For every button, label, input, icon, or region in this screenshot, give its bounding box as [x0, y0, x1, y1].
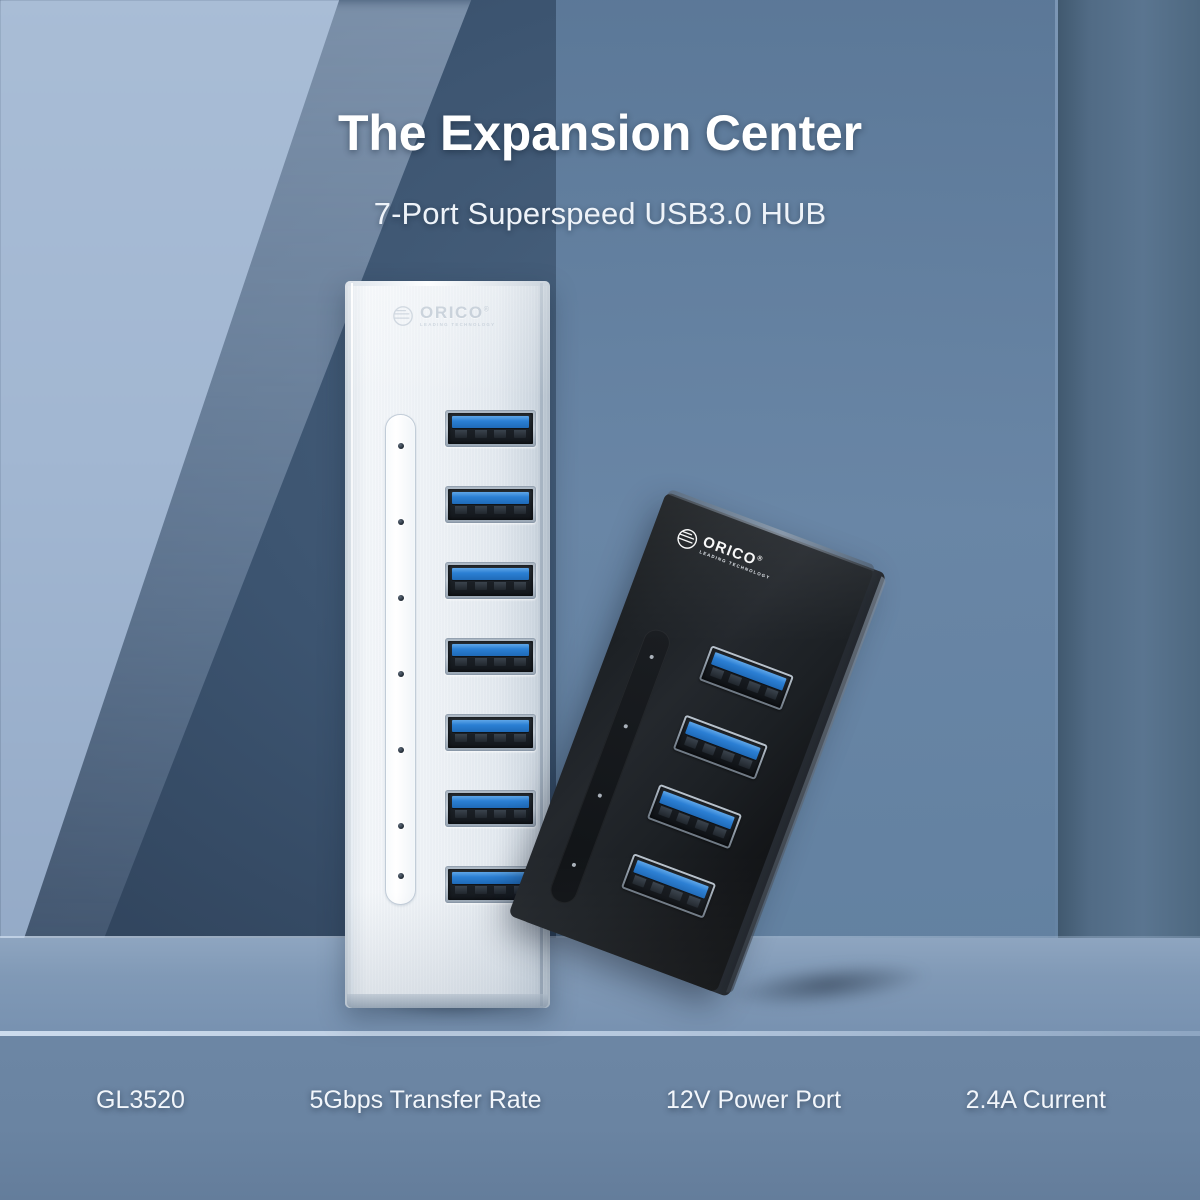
usb-contact-teeth [455, 430, 526, 438]
usb-port[interactable] [699, 645, 794, 710]
usb-port-cavity [701, 648, 791, 708]
usb-port-cavity [448, 565, 533, 596]
usb3-blue-insert [452, 416, 529, 428]
page-subtitle: 7-Port Superspeed USB3.0 HUB [0, 196, 1200, 232]
led-indicator [398, 873, 404, 879]
usb-contact-teeth [455, 810, 526, 818]
usb-port[interactable] [445, 410, 536, 447]
led-indicator [398, 595, 404, 601]
usb-port-cavity [448, 641, 533, 672]
silver-hub-led-strip [385, 414, 416, 905]
feature-item: 5Gbps Transfer Rate [309, 1086, 541, 1115]
usb-port[interactable] [445, 486, 536, 523]
orico-tagline: LEADING TECHNOLOGY [420, 323, 495, 327]
usb-contact-teeth [710, 667, 779, 700]
orico-wordmark-block: ORICO® LEADING TECHNOLOGY [420, 304, 495, 327]
usb3-blue-insert [452, 568, 529, 580]
usb-contact-teeth [455, 734, 526, 742]
led-indicator [398, 443, 404, 449]
orico-name: ORICO [420, 303, 484, 322]
usb-port-cavity [448, 717, 533, 748]
usb-contact-teeth [632, 875, 701, 908]
usb3-blue-insert [685, 722, 760, 760]
led-indicator [623, 724, 628, 729]
orico-wordmark: ORICO® [420, 304, 495, 321]
feature-item: GL3520 [96, 1086, 185, 1115]
led-indicator [649, 654, 654, 659]
registered-mark: ® [756, 555, 765, 564]
usb-contact-teeth [658, 806, 727, 839]
usb-port-cavity [448, 413, 533, 444]
usb-port[interactable] [445, 638, 536, 675]
orico-name: ORICO [700, 533, 759, 569]
usb3-blue-insert [452, 796, 529, 808]
led-indicator [398, 519, 404, 525]
usb3-blue-insert [633, 860, 708, 898]
usb-port[interactable] [445, 790, 536, 827]
usb-port-cavity [649, 786, 739, 846]
product-black-hub: ORICO® LEADING TECHNOLOGY [556, 508, 936, 1028]
usb-contact-teeth [455, 582, 526, 590]
led-indicator [398, 823, 404, 829]
orico-wordmark: ORICO® [701, 534, 777, 574]
usb3-blue-insert [452, 872, 529, 884]
usb-port[interactable] [445, 562, 536, 599]
silver-hub-left-bevel [351, 283, 353, 1006]
led-indicator [597, 793, 602, 798]
orico-wordmark-block: ORICO® LEADING TECHNOLOGY [699, 534, 777, 580]
registered-mark: ® [484, 306, 491, 313]
usb-port-cavity [623, 856, 713, 916]
usb-port[interactable] [621, 853, 716, 918]
usb-port[interactable] [647, 784, 742, 849]
silver-hub-base [347, 994, 548, 1008]
usb3-blue-insert [452, 644, 529, 656]
feature-strip: GL3520 5Gbps Transfer Rate 12V Power Por… [96, 1072, 1106, 1128]
usb-contact-teeth [455, 658, 526, 666]
led-indicator [398, 671, 404, 677]
orico-logo-black: ORICO® LEADING TECHNOLOGY [674, 525, 776, 581]
usb3-blue-insert [452, 720, 529, 732]
usb-port-cavity [448, 793, 533, 824]
orico-logo-silver: ORICO® LEADING TECHNOLOGY [393, 304, 495, 327]
usb-contact-teeth [684, 737, 753, 770]
usb-port-cavity [675, 717, 765, 777]
page-title: The Expansion Center [0, 104, 1200, 162]
usb-port[interactable] [673, 715, 768, 780]
usb3-blue-insert [659, 791, 734, 829]
black-hub-led-strip [547, 626, 674, 907]
product-banner: The Expansion Center 7-Port Superspeed U… [0, 0, 1200, 1200]
led-indicator [398, 747, 404, 753]
usb-contact-teeth [455, 506, 526, 514]
orico-tagline: LEADING TECHNOLOGY [699, 550, 771, 581]
usb-port[interactable] [445, 714, 536, 751]
feature-item: 2.4A Current [966, 1086, 1106, 1115]
feature-item: 12V Power Port [666, 1086, 841, 1115]
orico-globe-icon [674, 526, 700, 552]
usb-port-cavity [448, 489, 533, 520]
black-hub-body-rotated: ORICO® LEADING TECHNOLOGY [508, 492, 884, 997]
silver-hub-top-cap [347, 281, 548, 286]
led-indicator [571, 862, 576, 867]
usb3-blue-insert [711, 652, 786, 690]
usb3-blue-insert [452, 492, 529, 504]
orico-globe-icon [393, 306, 413, 326]
